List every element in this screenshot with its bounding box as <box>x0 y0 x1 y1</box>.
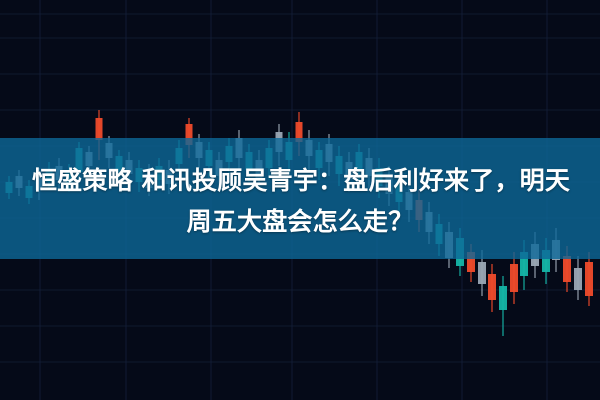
headline-line-2: 周五大盘会怎么走？ <box>0 201 600 242</box>
headline-text: 恒盛策略 和讯投顾吴青宇：盘后利好来了，明天 周五大盘会怎么走？ <box>0 160 600 242</box>
headline-line-1: 恒盛策略 和讯投顾吴青宇：盘后利好来了，明天 <box>0 160 600 201</box>
thumbnail-canvas: 恒盛策略 和讯投顾吴青宇：盘后利好来了，明天 周五大盘会怎么走？ <box>0 0 600 400</box>
